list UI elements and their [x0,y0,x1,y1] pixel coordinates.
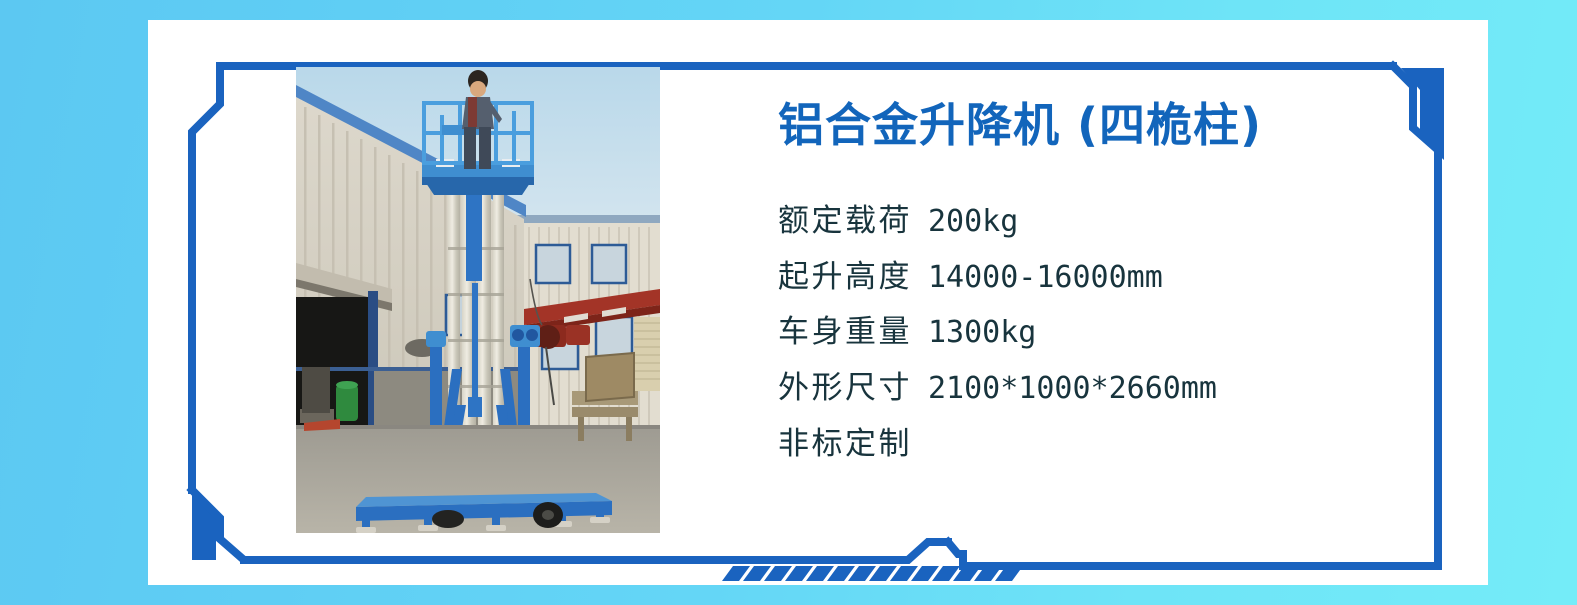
stripe-decoration [722,566,1023,581]
product-photo [296,67,660,533]
page-title: 铝合金升降机 (四桅柱) [778,98,1438,153]
spec-row-lift-height: 起升高度 14000-16000mm [778,255,1438,300]
spec-label-custom: 非标定制 [778,422,912,466]
product-info: 铝合金升降机 (四桅柱) 额定载荷 200kg 起升高度 14000-16000… [778,98,1438,477]
spec-row-dimensions: 外形尺寸 2100*1000*2660mm [778,366,1438,411]
spec-label-lift-height: 起升高度 [778,255,912,299]
spec-value-dimensions: 2100*1000*2660mm [928,368,1217,411]
spec-row-custom: 非标定制 [778,422,1438,466]
spec-value-rated-load: 200kg [928,201,1018,244]
product-photo-illustration [296,67,660,533]
frame-bottom-line [244,542,1438,566]
spec-label-weight: 车身重量 [778,310,912,354]
spec-label-rated-load: 额定载荷 [778,199,912,243]
product-banner: 铝合金升降机 (四桅柱) 额定载荷 200kg 起升高度 14000-16000… [0,0,1577,605]
spec-row-weight: 车身重量 1300kg [778,310,1438,355]
spec-label-dimensions: 外形尺寸 [778,366,912,410]
white-card: 铝合金升降机 (四桅柱) 额定载荷 200kg 起升高度 14000-16000… [148,20,1488,585]
spec-list: 额定载荷 200kg 起升高度 14000-16000mm 车身重量 1300k… [778,199,1438,465]
spec-row-rated-load: 额定载荷 200kg [778,199,1438,244]
spec-value-lift-height: 14000-16000mm [928,257,1163,300]
spec-value-weight: 1300kg [928,312,1036,355]
